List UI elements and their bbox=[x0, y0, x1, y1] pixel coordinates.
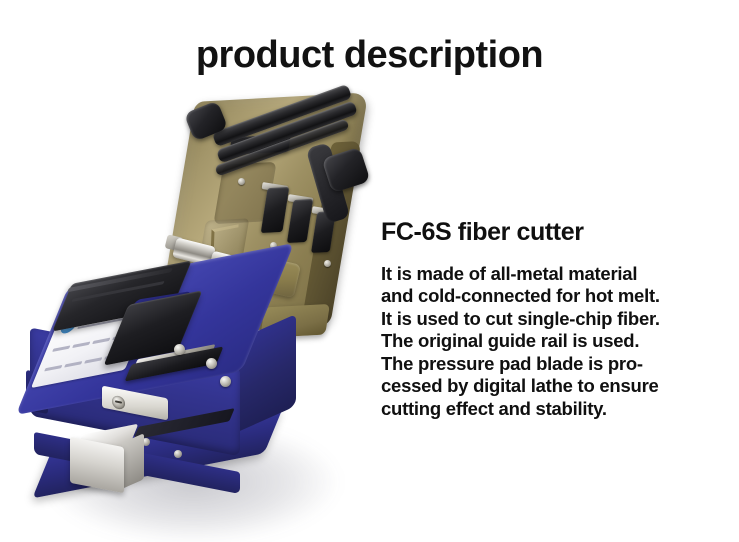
description-line: It is used to cut single-chip fiber. bbox=[381, 308, 729, 331]
post-icon bbox=[220, 376, 231, 387]
screw-icon bbox=[174, 450, 182, 458]
post-icon bbox=[174, 344, 185, 355]
screw-icon bbox=[238, 178, 245, 185]
post-icon bbox=[206, 358, 217, 369]
description-line: cessed by digital lathe to ensure bbox=[381, 375, 729, 398]
description-line: It is made of all-metal material bbox=[381, 263, 729, 286]
description-line: and cold-connected for hot melt. bbox=[381, 285, 729, 308]
product-name: FC-6S fiber cutter bbox=[381, 219, 729, 247]
product-info-panel: FC-6S fiber cutter It is made of all-met… bbox=[381, 219, 729, 421]
page-title: product description bbox=[0, 36, 739, 76]
product-image bbox=[18, 92, 378, 508]
description-line: The pressure pad blade is pro- bbox=[381, 353, 729, 376]
description-line: cutting effect and stability. bbox=[381, 398, 729, 421]
product-description: It is made of all-metal material and col… bbox=[381, 263, 729, 421]
description-line: The original guide rail is used. bbox=[381, 330, 729, 353]
blue-base-assembly bbox=[24, 252, 344, 502]
slider-block-side bbox=[122, 433, 144, 489]
